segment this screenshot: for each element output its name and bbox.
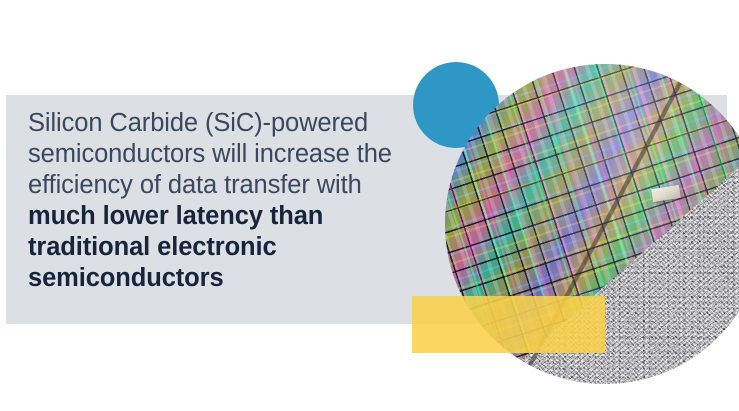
headline-text: Silicon Carbide (SiC)-powered semiconduc… bbox=[28, 108, 428, 294]
headline-bold-part: much lower latency than traditional elec… bbox=[28, 202, 323, 292]
poster-canvas: Silicon Carbide (SiC)-powered semiconduc… bbox=[0, 0, 739, 411]
yellow-accent-rectangle bbox=[412, 296, 605, 353]
headline-normal-part: Silicon Carbide (SiC)-powered semiconduc… bbox=[28, 109, 392, 199]
